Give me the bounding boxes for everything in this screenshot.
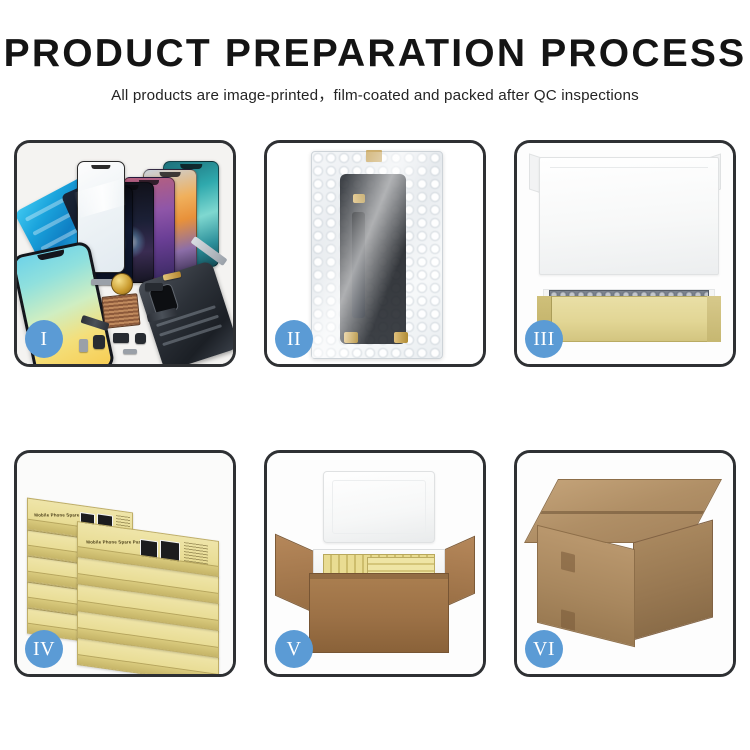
white-box-lid-icon: [539, 157, 719, 275]
panel-step-2: II: [264, 140, 486, 367]
page-header: PRODUCT PREPARATION PROCESS All products…: [0, 0, 750, 103]
speaker-module-icon: [111, 273, 133, 295]
process-panel-grid: I II III: [14, 140, 736, 677]
panel-badge-2: II: [275, 320, 313, 358]
carton-tape-patch-bottom-icon: [561, 609, 575, 630]
panel-step-3: III: [514, 140, 736, 367]
spare-part-screw-strip-icon: [123, 349, 137, 354]
panel-step-6: VI: [514, 450, 736, 677]
panel-step-4: Mobile Phone Spare Parts Mobile Phone Sp…: [14, 450, 236, 677]
panel-badge-1: I: [25, 320, 63, 358]
carton-tape-patch-top-icon: [561, 551, 575, 572]
carton-body-icon: [309, 573, 449, 653]
panel-badge-5: V: [275, 630, 313, 668]
page-subtitle: All products are image-printed，film-coat…: [0, 88, 750, 103]
spare-part-vibrator-icon: [135, 333, 146, 344]
sealed-carton-front-icon: [537, 525, 635, 647]
spare-part-connector-icon: [145, 283, 163, 291]
panel-badge-6: VI: [525, 630, 563, 668]
spare-part-sim-tray-icon: [79, 339, 88, 352]
spare-part-button-icon: [93, 335, 105, 349]
panel-badge-3: III: [525, 320, 563, 358]
panel-step-5: V: [264, 450, 486, 677]
panel-badge-4: IV: [25, 630, 63, 668]
retail-box-label-text-front: Mobile Phone Spare Parts: [86, 539, 145, 544]
kraft-box-base-icon: [537, 296, 721, 342]
page-title: PRODUCT PREPARATION PROCESS: [0, 34, 750, 73]
spare-part-camera-icon: [113, 333, 129, 343]
foam-lid-icon: [323, 471, 435, 543]
panel-step-1: I: [14, 140, 236, 367]
bubble-wrap-package-icon: [311, 151, 443, 359]
